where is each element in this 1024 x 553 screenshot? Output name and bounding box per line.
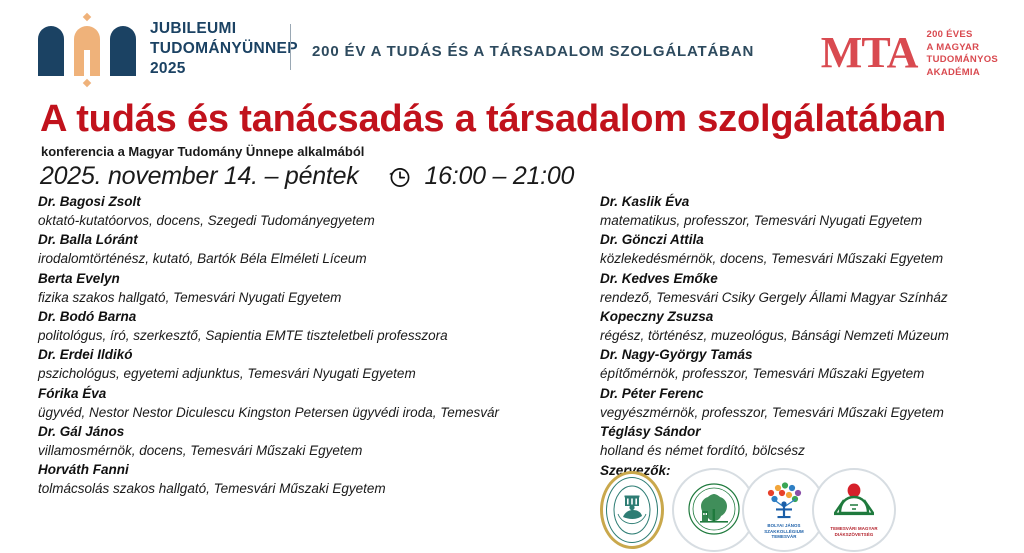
mta-sub-line-3: TUDOMÁNYOS: [927, 54, 998, 67]
diamond-dot-icon: [83, 79, 91, 87]
speaker-entry: Dr. Erdei Ildikó pszichológus, egyetemi …: [38, 345, 583, 383]
speaker-name: Dr. Kaslik Éva: [600, 192, 1020, 211]
speaker-entry: Dr. Balla Lóránt irodalomtörténész, kuta…: [38, 230, 583, 268]
speaker-entry: Horváth Fanni tolmácsolás szakos hallgat…: [38, 460, 583, 498]
mta-sub-line-2: A MAGYAR: [927, 42, 998, 55]
speaker-name: Dr. Nagy-György Tamás: [600, 345, 1020, 364]
speaker-name: Horváth Fanni: [38, 460, 583, 479]
jubilee-line-3: 2025: [150, 59, 298, 79]
crest-inner-ring: [606, 477, 658, 543]
org-caption-line: BOLYAI JÁNOS: [764, 523, 803, 529]
org-caption-line: TEMESVÁRI MAGYAR: [830, 526, 877, 532]
speaker-entry: Dr. Gál János villamosmérnök, docens, Te…: [38, 422, 583, 460]
header-divider: [290, 24, 291, 70]
mta-subtext: 200 ÉVES A MAGYAR TUDOMÁNYOS AKADÉMIA: [927, 26, 998, 79]
diamond-dot-icon: [83, 13, 91, 21]
organizer-logos: BOLYAI JÁNOS SZAKKOLLÉGIUM TEMESVÁR TEME…: [600, 468, 896, 552]
speaker-name: Berta Evelyn: [38, 269, 583, 288]
speaker-name: Dr. Kedves Emőke: [600, 269, 1020, 288]
org-caption-line: TEMESVÁR: [764, 534, 803, 540]
clock-icon: [386, 164, 412, 190]
speaker-entry: Dr. Péter Ferenc vegyészmérnök, professz…: [600, 384, 1020, 422]
org-caption: BOLYAI JÁNOS SZAKKOLLÉGIUM TEMESVÁR: [764, 523, 803, 540]
three-arches-icon: [38, 14, 136, 84]
speaker-role: matematikus, professzor, Temesvári Nyuga…: [600, 211, 1020, 230]
speaker-name: Téglásy Sándor: [600, 422, 1020, 441]
speaker-role: irodalomtörténész, kutató, Bartók Béla E…: [38, 249, 583, 268]
speaker-name: Dr. Gönczi Attila: [600, 230, 1020, 249]
speaker-role: rendező, Temesvári Csiky Gergely Állami …: [600, 288, 1020, 307]
arch-notch-icon: [84, 50, 90, 76]
mta-sub-line-1: 200 ÉVES: [927, 29, 998, 42]
jubilee-logo: JUBILEUMI TUDOMÁNYÜNNEP 2025: [38, 14, 298, 84]
poster-header: JUBILEUMI TUDOMÁNYÜNNEP 2025 200 ÉV A TU…: [0, 0, 1024, 92]
speaker-entry: Fórika Éva ügyvéd, Nestor Nestor Dicules…: [38, 384, 583, 422]
page-subtitle: konferencia a Magyar Tudomány Ünnepe alk…: [41, 144, 364, 159]
speaker-role: építőmérnök, professzor, Temesvári Műsza…: [600, 364, 1020, 383]
speaker-name: Dr. Gál János: [38, 422, 583, 441]
jubilee-line-2: TUDOMÁNYÜNNEP: [150, 39, 298, 59]
event-dateline: 2025. november 14. – péntek 16:00 – 21:0…: [40, 162, 574, 191]
speaker-name: Dr. Péter Ferenc: [600, 384, 1020, 403]
poster-page: JUBILEUMI TUDOMÁNYÜNNEP 2025 200 ÉV A TU…: [0, 0, 1024, 553]
speaker-entry: Berta Evelyn fizika szakos hallgató, Tem…: [38, 269, 583, 307]
speaker-role: villamosmérnök, docens, Temesvári Műszak…: [38, 441, 583, 460]
speaker-entry: Dr. Bagosi Zsolt oktató-kutatóorvos, doc…: [38, 192, 583, 230]
speaker-entry: Dr. Nagy-György Tamás építőmérnök, profe…: [600, 345, 1020, 383]
page-title: A tudás és tanácsadás a társadalom szolg…: [40, 98, 946, 141]
org-caption-line: DIÁKSZÖVETSÉG: [830, 532, 877, 538]
green-arch-dome-icon: TEMESVÁRI MAGYAR DIÁKSZÖVETSÉG: [812, 468, 896, 552]
speaker-name: Kopeczny Zsuzsa: [600, 307, 1020, 326]
speaker-entry: Dr. Kedves Emőke rendező, Temesvári Csik…: [600, 269, 1020, 307]
speaker-name: Dr. Bodó Barna: [38, 307, 583, 326]
arch-right-icon: [110, 26, 136, 76]
event-time: 16:00 – 21:00: [424, 162, 574, 191]
speaker-role: közlekedésmérnök, docens, Temesvári Műsz…: [600, 249, 1020, 268]
speaker-name: Dr. Bagosi Zsolt: [38, 192, 583, 211]
mta-wordmark: MTA: [821, 34, 918, 72]
speaker-entry: Dr. Bodó Barna politológus, író, szerkes…: [38, 307, 583, 345]
oval-crest-equestrian-icon: [600, 471, 664, 549]
speaker-role: fizika szakos hallgató, Temesvári Nyugat…: [38, 288, 583, 307]
speaker-entry: Kopeczny Zsuzsa régész, történész, muzeo…: [600, 307, 1020, 345]
speaker-entry: Téglásy Sándor holland és német fordító,…: [600, 422, 1020, 460]
event-date: 2025. november 14. – péntek: [40, 162, 358, 191]
speaker-role: oktató-kutatóorvos, docens, Szegedi Tudo…: [38, 211, 583, 230]
speaker-entry: Dr. Kaslik Éva matematikus, professzor, …: [600, 192, 1020, 230]
mta-sub-line-4: AKADÉMIA: [927, 67, 998, 80]
mta-logo: MTA 200 ÉVES A MAGYAR TUDOMÁNYOS AKADÉMI…: [821, 26, 998, 79]
speaker-role: régész, történész, muzeológus, Bánsági N…: [600, 326, 1020, 345]
speaker-name: Dr. Balla Lóránt: [38, 230, 583, 249]
speaker-list-right: Dr. Kaslik Éva matematikus, professzor, …: [600, 192, 1020, 480]
speaker-role: pszichológus, egyetemi adjunktus, Temesv…: [38, 364, 583, 383]
speaker-role: tolmácsolás szakos hallgató, Temesvári M…: [38, 479, 583, 498]
speaker-role: politológus, író, szerkesztő, Sapientia …: [38, 326, 583, 345]
speaker-role: vegyészmérnök, professzor, Temesvári Műs…: [600, 403, 1020, 422]
jubilee-line-1: JUBILEUMI: [150, 19, 298, 39]
org-caption: TEMESVÁRI MAGYAR DIÁKSZÖVETSÉG: [830, 526, 877, 537]
colorful-tree-icon: [762, 480, 806, 520]
speaker-role: ügyvéd, Nestor Nestor Diculescu Kingston…: [38, 403, 583, 422]
speaker-list-left: Dr. Bagosi Zsolt oktató-kutatóorvos, doc…: [38, 192, 583, 499]
header-tagline: 200 ÉV A TUDÁS ÉS A TÁRSADALOM SZOLGÁLAT…: [312, 43, 754, 60]
speaker-name: Dr. Erdei Ildikó: [38, 345, 583, 364]
arch-left-icon: [38, 26, 64, 76]
speaker-name: Fórika Éva: [38, 384, 583, 403]
speaker-entry: Dr. Gönczi Attila közlekedésmérnök, doce…: [600, 230, 1020, 268]
speaker-role: holland és német fordító, bölcsész: [600, 441, 1020, 460]
jubilee-logo-text: JUBILEUMI TUDOMÁNYÜNNEP 2025: [150, 19, 298, 78]
arch-dome-icon: [830, 483, 878, 523]
tree-landscape-icon: [686, 481, 742, 537]
